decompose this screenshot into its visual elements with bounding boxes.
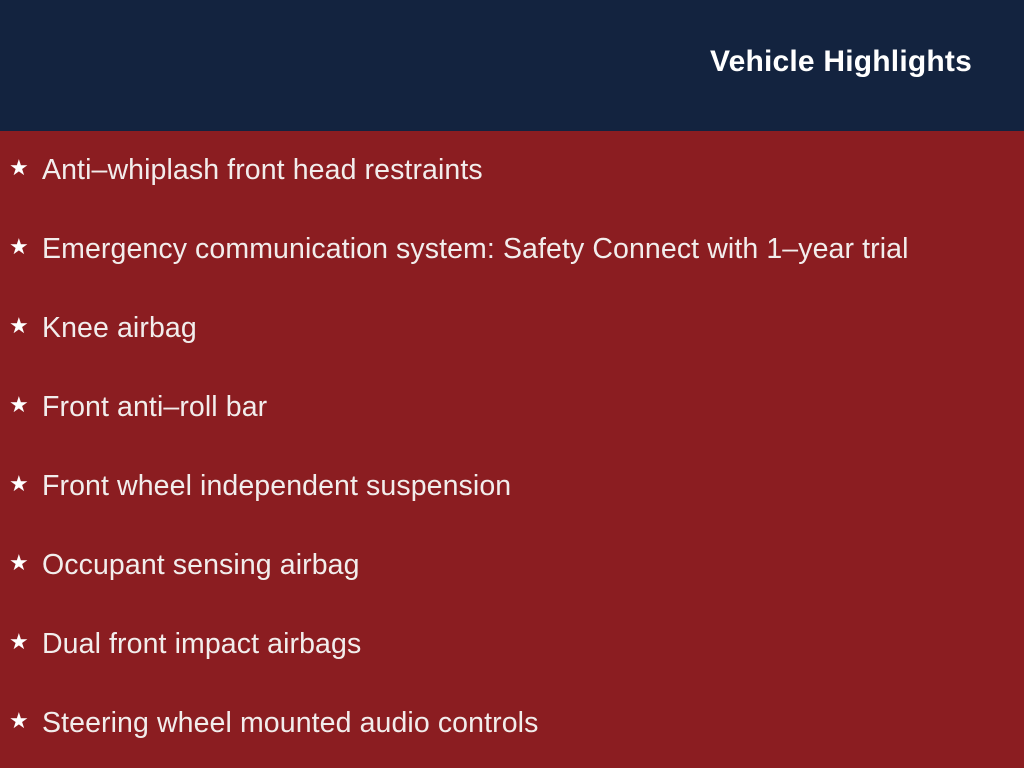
page-title: Vehicle Highlights xyxy=(710,44,972,80)
list-item: ★ Occupant sensing airbag xyxy=(0,545,1024,585)
star-icon: ★ xyxy=(9,395,42,417)
star-icon: ★ xyxy=(9,474,42,496)
vehicle-highlights-slide: Vehicle Highlights ★ Anti–whiplash front… xyxy=(0,0,1024,768)
vehicle-highlights-list: ★ Anti–whiplash front head restraints ★ … xyxy=(0,131,1024,768)
star-icon: ★ xyxy=(9,316,42,338)
list-item-label: Knee airbag xyxy=(42,308,197,348)
list-item-label: Front anti–roll bar xyxy=(42,387,267,427)
list-item-label: Front wheel independent suspension xyxy=(42,466,511,506)
list-item-label: Emergency communication system: Safety C… xyxy=(42,229,909,269)
list-item: ★ Front wheel independent suspension xyxy=(0,466,1024,506)
list-item: ★ Emergency communication system: Safety… xyxy=(0,229,1024,269)
list-item: ★ Knee airbag xyxy=(0,308,1024,348)
list-item-label: Steering wheel mounted audio controls xyxy=(42,703,538,743)
star-icon: ★ xyxy=(9,553,42,575)
list-item-label: Dual front impact airbags xyxy=(42,624,361,664)
list-item-label: Occupant sensing airbag xyxy=(42,545,360,585)
list-item: ★ Anti–whiplash front head restraints xyxy=(0,150,1024,190)
star-icon: ★ xyxy=(9,237,42,259)
star-icon: ★ xyxy=(9,632,42,654)
list-item-label: Anti–whiplash front head restraints xyxy=(42,150,483,190)
list-item: ★ Steering wheel mounted audio controls xyxy=(0,703,1024,743)
list-item: ★ Dual front impact airbags xyxy=(0,624,1024,664)
star-icon: ★ xyxy=(9,158,42,180)
header-band: Vehicle Highlights xyxy=(0,0,1024,131)
star-icon: ★ xyxy=(9,711,42,733)
list-item: ★ Front anti–roll bar xyxy=(0,387,1024,427)
